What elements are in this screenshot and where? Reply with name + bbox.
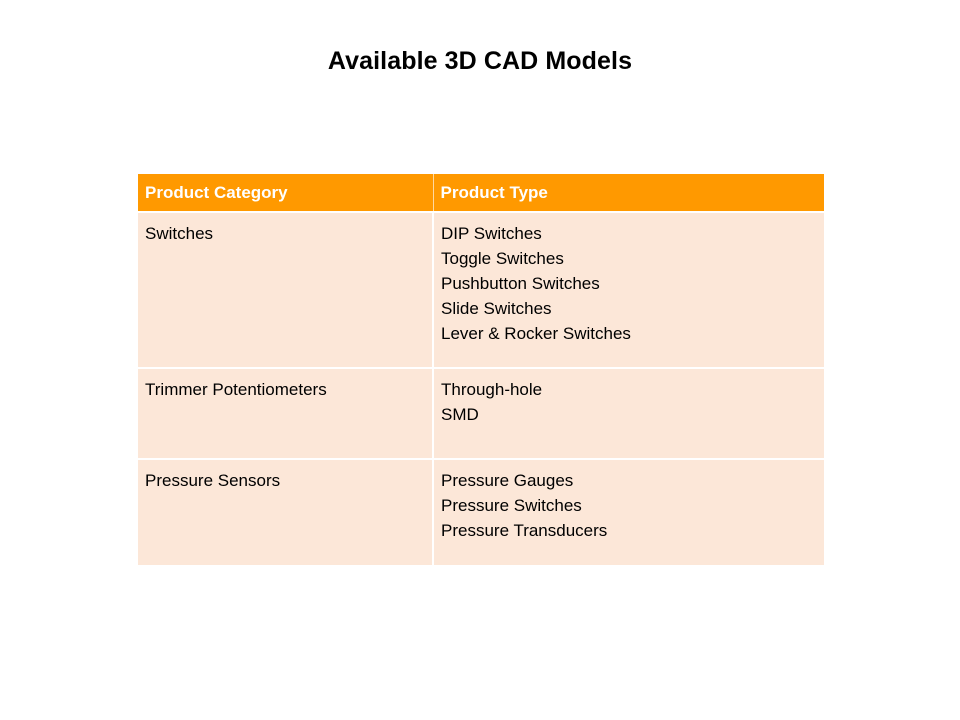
page-title: Available 3D CAD Models bbox=[0, 46, 960, 76]
list-item: Pressure Gauges bbox=[441, 468, 824, 493]
cell-product-type: Through-hole SMD bbox=[433, 368, 824, 459]
column-header-product-category: Product Category bbox=[138, 174, 433, 212]
cell-product-category: Pressure Sensors bbox=[138, 459, 433, 565]
list-item: Pushbutton Switches bbox=[441, 271, 824, 296]
table-row: Pressure Sensors Pressure Gauges Pressur… bbox=[138, 459, 824, 565]
category-label: Pressure Sensors bbox=[145, 468, 432, 493]
cell-product-category: Switches bbox=[138, 212, 433, 368]
list-item: SMD bbox=[441, 402, 824, 427]
product-type-list: Pressure Gauges Pressure Switches Pressu… bbox=[441, 468, 824, 543]
list-item: DIP Switches bbox=[441, 221, 824, 246]
table-header: Product Category Product Type bbox=[138, 174, 824, 212]
slide-canvas: Available 3D CAD Models Product Category… bbox=[0, 0, 960, 720]
list-item: Toggle Switches bbox=[441, 246, 824, 271]
category-label: Trimmer Potentiometers bbox=[145, 377, 432, 402]
list-item: Pressure Transducers bbox=[441, 518, 824, 543]
cell-product-type: Pressure Gauges Pressure Switches Pressu… bbox=[433, 459, 824, 565]
cell-product-type: DIP Switches Toggle Switches Pushbutton … bbox=[433, 212, 824, 368]
table-header-row: Product Category Product Type bbox=[138, 174, 824, 212]
list-item: Slide Switches bbox=[441, 296, 824, 321]
category-label: Switches bbox=[145, 221, 432, 246]
table-row: Trimmer Potentiometers Through-hole SMD bbox=[138, 368, 824, 459]
product-type-list: Through-hole SMD bbox=[441, 377, 824, 427]
table-row: Switches DIP Switches Toggle Switches Pu… bbox=[138, 212, 824, 368]
product-type-list: DIP Switches Toggle Switches Pushbutton … bbox=[441, 221, 824, 346]
list-item: Pressure Switches bbox=[441, 493, 824, 518]
table-body: Switches DIP Switches Toggle Switches Pu… bbox=[138, 212, 824, 565]
cell-product-category: Trimmer Potentiometers bbox=[138, 368, 433, 459]
list-item: Through-hole bbox=[441, 377, 824, 402]
list-item: Lever & Rocker Switches bbox=[441, 321, 824, 346]
cad-models-table: Product Category Product Type Switches D… bbox=[138, 174, 824, 565]
column-header-product-type: Product Type bbox=[433, 174, 824, 212]
